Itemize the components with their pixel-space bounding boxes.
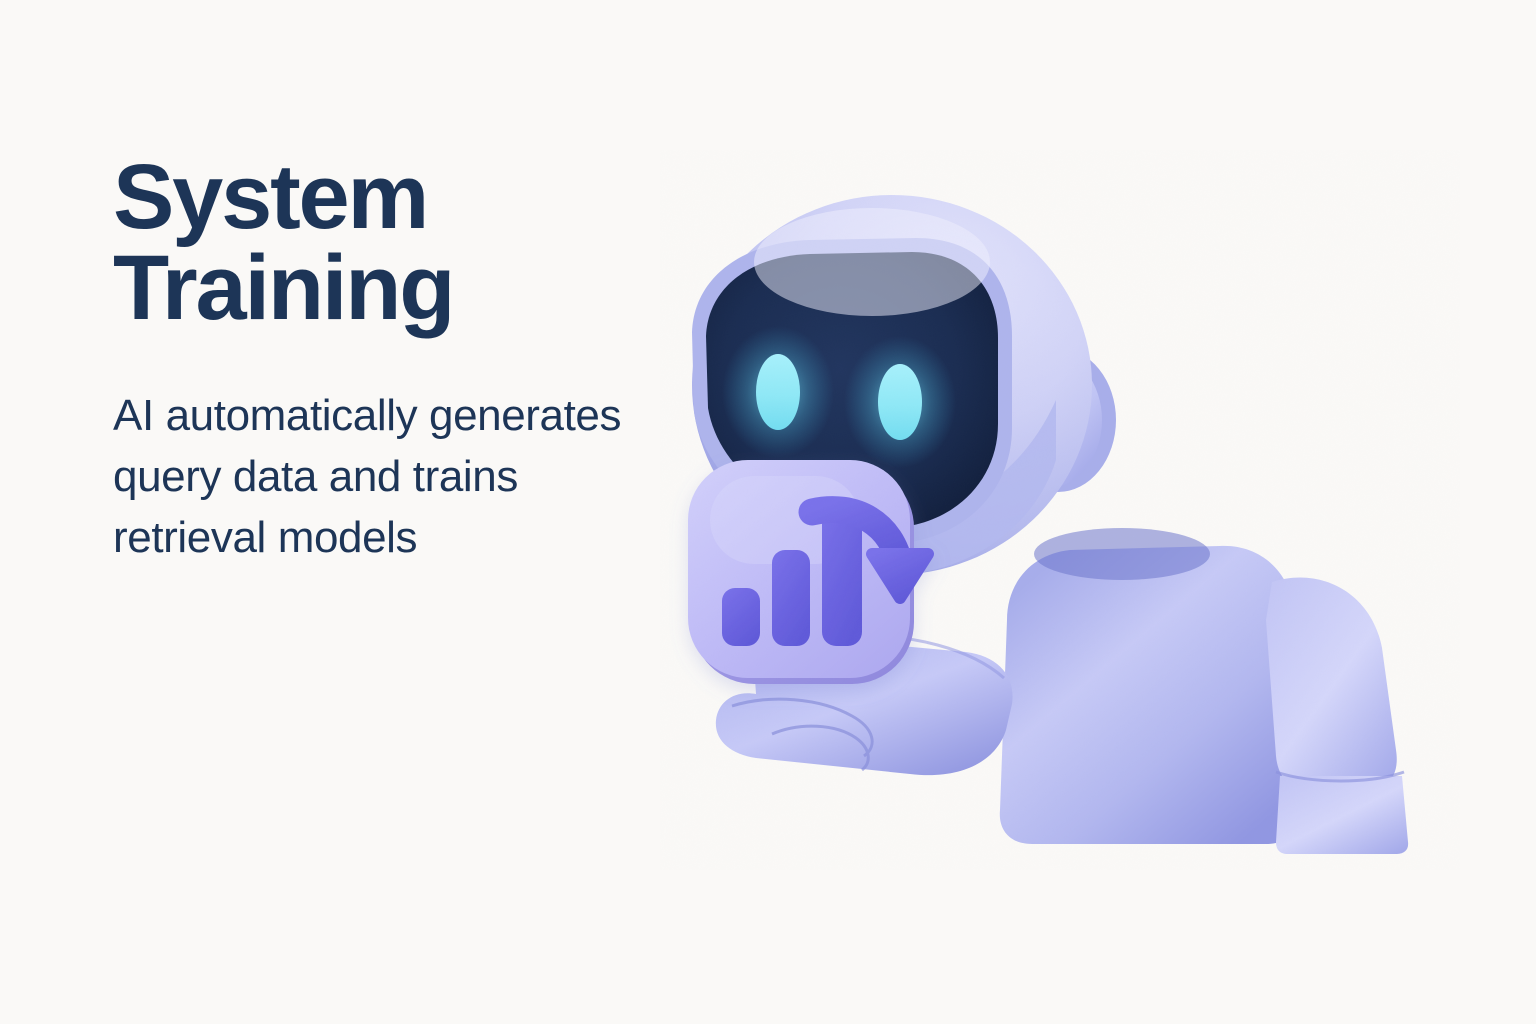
page-title: System Training (113, 152, 673, 334)
text-column: System Training AI automatically generat… (113, 152, 673, 568)
slide-canvas: System Training AI automatically generat… (0, 0, 1536, 1024)
page-subtitle: AI automatically generates query data an… (113, 386, 669, 568)
robot-illustration (660, 150, 1460, 870)
